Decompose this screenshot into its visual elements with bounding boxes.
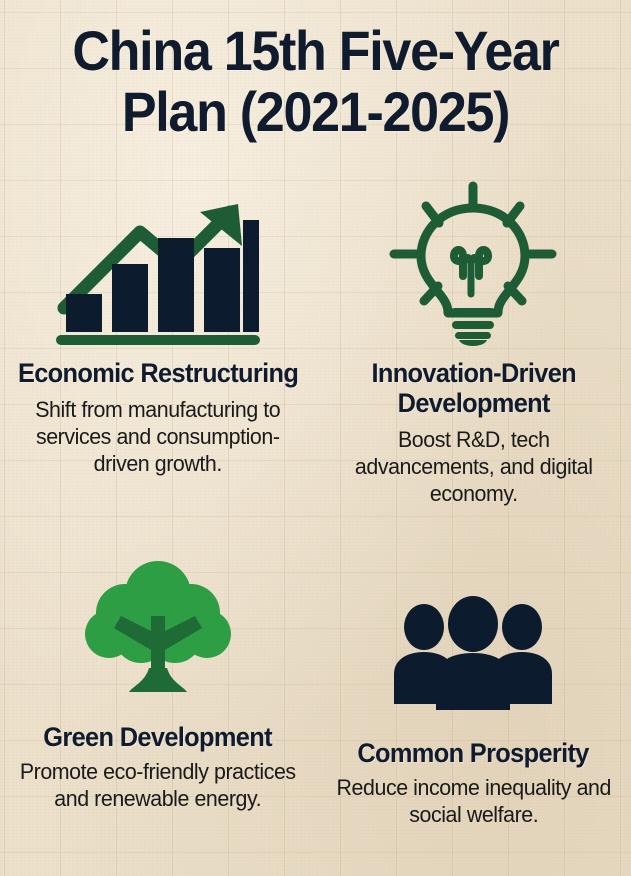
pillar-heading: Innovation-Driven Development: [332, 358, 614, 418]
pillar-body: Promote eco-friendly practices and renew…: [15, 758, 300, 812]
pillar-body: Reduce income inequality and social welf…: [331, 774, 616, 828]
pillar-card-common-prosperity: Common Prosperity Reduce income inequali…: [316, 538, 631, 876]
pillar-grid: Economic Restructuring Shift from manufa…: [0, 180, 631, 876]
people-group-icon: [390, 564, 556, 712]
pillar-body: Shift from manufacturing to services and…: [15, 396, 300, 477]
pillar-heading: Common Prosperity: [358, 738, 589, 768]
lightbulb-icon: [384, 184, 562, 344]
pillar-heading: Economic Restructuring: [18, 358, 298, 388]
page-title: China 15th Five-Year Plan (2021-2025): [0, 20, 631, 142]
infographic-poster: China 15th Five-Year Plan (2021-2025): [0, 0, 631, 876]
page-title-line-2: Plan (2021-2025): [22, 81, 609, 142]
pillar-card-innovation-driven-development: Innovation-Driven Development Boost R&D,…: [316, 180, 631, 538]
bar-chart-growth-icon: [52, 188, 264, 348]
page-title-line-1: China 15th Five-Year: [22, 20, 609, 81]
pillar-card-economic-restructuring: Economic Restructuring Shift from manufa…: [0, 180, 316, 538]
pillar-heading: Green Development: [43, 722, 272, 752]
pillar-body: Boost R&D, tech advancements, and digita…: [331, 426, 616, 507]
pillar-card-green-development: Green Development Promote eco-friendly p…: [0, 538, 316, 876]
tree-icon: [83, 552, 233, 700]
